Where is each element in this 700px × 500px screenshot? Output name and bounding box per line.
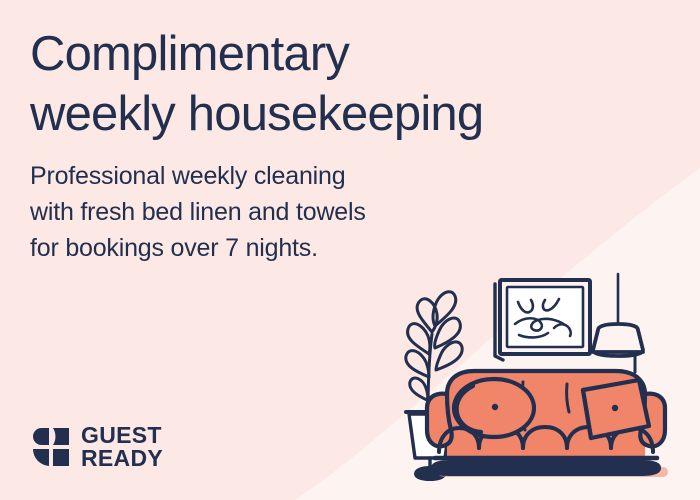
pendant-lamp-icon	[593, 274, 643, 372]
framed-art-icon	[495, 280, 590, 360]
page-subtitle: Professional weekly cleaning with fresh …	[30, 158, 590, 266]
square-cushion-icon	[583, 380, 649, 438]
page-title: Complimentary weekly housekeeping	[30, 24, 590, 144]
guestready-quadrant-mark-icon	[32, 427, 70, 467]
round-cushion-icon	[454, 379, 534, 437]
living-room-illustration	[395, 262, 695, 500]
logo-wordmark: GUEST READY	[81, 424, 163, 470]
sofa-icon	[427, 370, 665, 476]
text-block: Complimentary weekly housekeeping Profes…	[30, 24, 590, 266]
promo-banner: Complimentary weekly housekeeping Profes…	[0, 0, 700, 500]
brand-logo: GUEST READY	[32, 424, 163, 470]
